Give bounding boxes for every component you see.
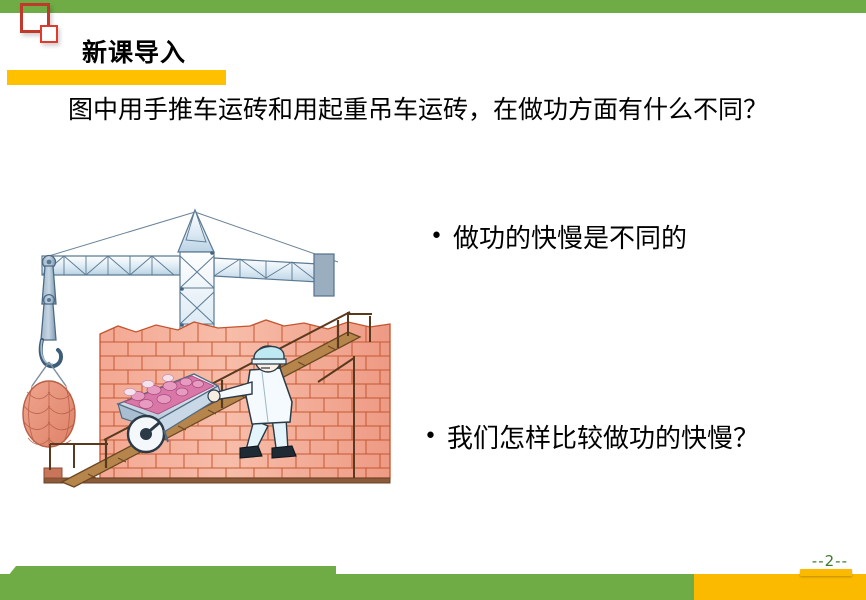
decorative-square-small (40, 25, 58, 43)
title-underline-bar (7, 70, 226, 85)
bullet-marker-icon: • (430, 226, 443, 248)
bullet-marker-icon: • (424, 426, 437, 448)
construction-illustration (18, 196, 408, 496)
top-green-band (0, 0, 866, 13)
slide-canvas: 新课导入 图中用手推车运砖和用起重吊车运砖，在做功方面有什么不同？ • 做功的快… (0, 0, 866, 600)
bullet-item-2: • 我们怎样比较做功的快慢？ (424, 418, 759, 455)
bottom-green-band (0, 574, 694, 600)
bullet-label-1: 做功的快慢是不同的 (453, 218, 687, 255)
page-number: --2-- (812, 552, 848, 570)
bullet-label-2: 我们怎样比较做功的快慢？ (447, 418, 759, 455)
section-title: 新课导入 (82, 40, 186, 65)
bottom-orange-band (694, 574, 866, 600)
brick-net-bag (23, 362, 75, 447)
question-text: 图中用手推车运砖和用起重吊车运砖，在做功方面有什么不同？ (68, 94, 843, 126)
bullet-item-1: • 做功的快慢是不同的 (430, 218, 687, 255)
page-number-bar (800, 569, 852, 576)
